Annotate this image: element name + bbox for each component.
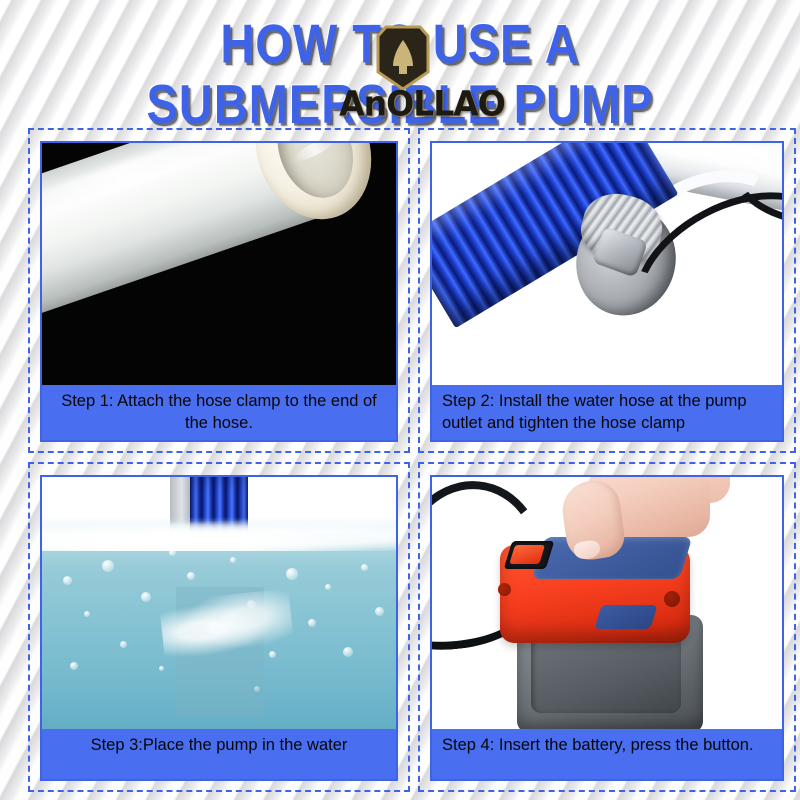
step-frame-4: Step 4: Insert the battery, press the bu… [430, 475, 784, 781]
step-card-1[interactable]: Step 1: Attach the hose clamp to the end… [28, 128, 410, 453]
step-card-2[interactable]: Step 2: Install the water hose at the pu… [418, 128, 796, 453]
step-frame-1: Step 1: Attach the hose clamp to the end… [40, 141, 398, 442]
step-card-3[interactable]: Step 3:Place the pump in the water [28, 462, 410, 792]
step-photo-2 [432, 143, 782, 385]
page-title: HOW TO USE A SUBMERSIBLE PUMP [0, 14, 800, 135]
header: HOW TO USE A SUBMERSIBLE PUMP AnOLLAO [0, 0, 800, 122]
step-caption-1: Step 1: Attach the hose clamp to the end… [42, 385, 396, 440]
water-splash [159, 588, 295, 667]
step-card-4[interactable]: Step 4: Insert the battery, press the bu… [418, 462, 796, 792]
adapter-port [664, 591, 680, 607]
battery-face [531, 631, 681, 713]
step-photo-3 [42, 477, 396, 729]
step-caption-2: Step 2: Install the water hose at the pu… [432, 385, 782, 440]
adapter-screw [498, 583, 511, 596]
step-frame-2: Step 2: Install the water hose at the pu… [430, 141, 784, 442]
hose-illustration [42, 143, 396, 323]
step-caption-4: Step 4: Insert the battery, press the bu… [432, 729, 782, 779]
power-switch[interactable] [504, 541, 555, 569]
step-photo-4 [432, 477, 782, 729]
steps-grid: Step 1: Attach the hose clamp to the end… [0, 122, 800, 800]
hand-pressing-button [550, 477, 710, 575]
step-frame-3: Step 3:Place the pump in the water [40, 475, 398, 781]
infographic-page: HOW TO USE A SUBMERSIBLE PUMP AnOLLAO [0, 0, 800, 800]
step-caption-3: Step 3:Place the pump in the water [42, 729, 396, 779]
step-photo-1 [42, 143, 396, 385]
adapter-label [594, 605, 657, 629]
